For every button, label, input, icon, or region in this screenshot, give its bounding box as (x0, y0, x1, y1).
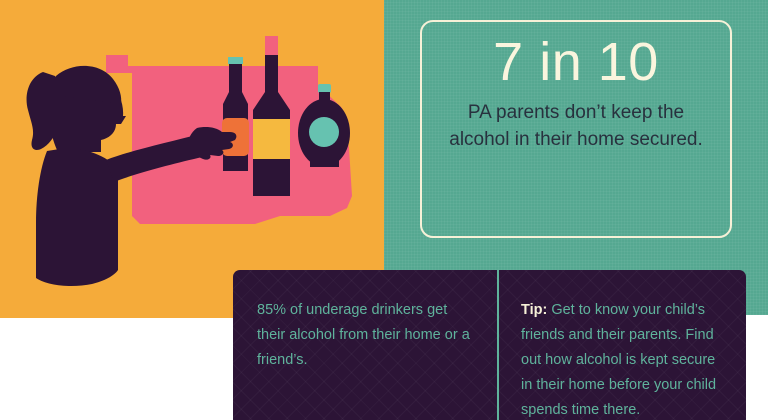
wine-bottle-foil (265, 36, 278, 56)
infographic-root: 7 in 10 PA parents don’t keep the alcoho… (0, 0, 768, 420)
tip-body: Get to know your child’s friends and the… (521, 302, 716, 418)
flask-cap (318, 84, 331, 93)
beer-bottle-cap (228, 57, 243, 64)
stat-frame: 7 in 10 PA parents don’t keep the alcoho… (420, 20, 732, 238)
tip-column-right: Tip: Get to know your child’s friends an… (497, 270, 746, 420)
stat-column-left: 85% of underage drinkers get their alcoh… (233, 270, 497, 420)
stat-subtext: PA parents don’t keep the alcohol in the… (422, 99, 730, 154)
bottom-dark-panel: 85% of underage drinkers get their alcoh… (233, 270, 746, 420)
flask-base (310, 157, 339, 167)
flask-label (309, 117, 339, 147)
stat-panel: 7 in 10 PA parents don’t keep the alcoho… (384, 0, 768, 315)
tip-paragraph: Tip: Get to know your child’s friends an… (521, 298, 722, 420)
girl-torso (36, 148, 118, 286)
tip-label: Tip: (521, 302, 547, 318)
wine-bottle-label (253, 119, 290, 159)
stat-headline: 7 in 10 (493, 34, 659, 91)
underage-drinkers-stat: 85% of underage drinkers get their alcoh… (257, 298, 473, 373)
